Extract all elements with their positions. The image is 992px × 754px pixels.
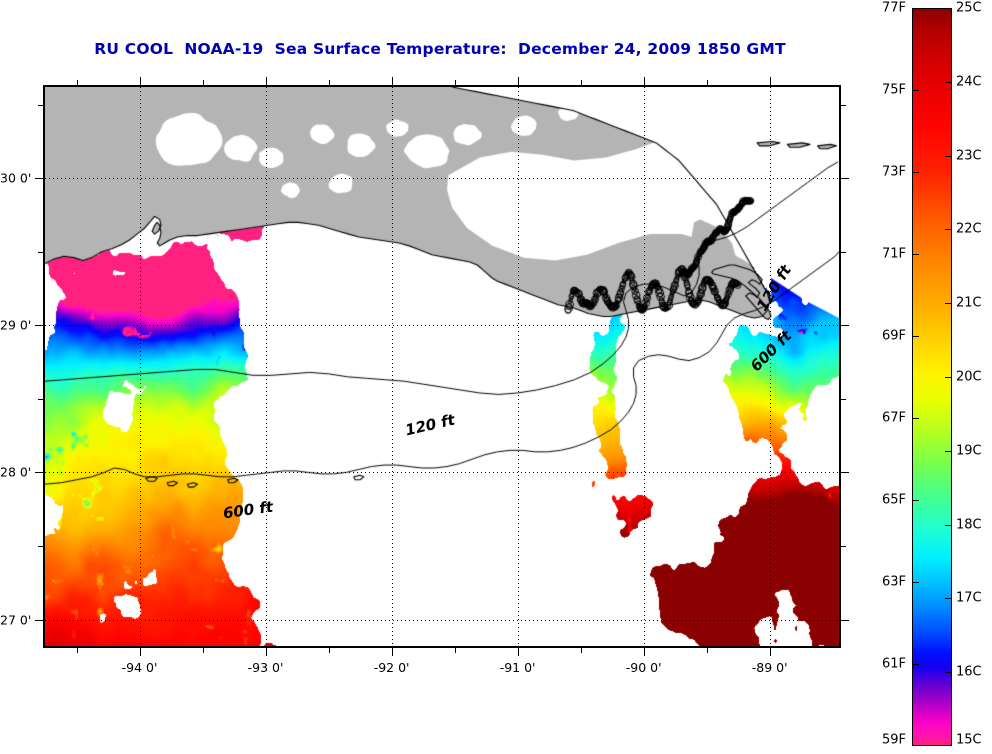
colorbar-celsius-label: 24C: [956, 74, 982, 89]
colorbar-fahrenheit-tick: [912, 172, 919, 173]
longitude-gridline: [770, 87, 771, 646]
colorbar-fahrenheit-label: 69F: [864, 329, 906, 344]
x-axis-tick: [770, 77, 771, 86]
colorbar-fahrenheit-tick: [912, 336, 919, 337]
x-axis-label: -92 0': [374, 660, 410, 675]
longitude-gridline: [644, 87, 645, 646]
y-axis-tick: [35, 620, 44, 621]
x-axis-minor-tick: [707, 647, 708, 653]
x-axis-minor-tick: [581, 647, 582, 653]
x-axis-label: -90 0': [626, 660, 662, 675]
x-axis-label: -89 0': [752, 660, 788, 675]
colorbar-celsius-label: 17C: [956, 591, 982, 606]
colorbar-celsius-tick: [945, 598, 952, 599]
longitude-gridline: [518, 87, 519, 646]
colorbar-celsius-label: 23C: [956, 148, 982, 163]
sst-map-panel: [43, 85, 841, 648]
y-axis-tick: [35, 472, 44, 473]
y-axis-minor-tick: [38, 105, 44, 106]
x-axis-tick: [644, 77, 645, 86]
y-axis-label: 29 0': [0, 318, 31, 333]
x-axis-minor-tick: [203, 647, 204, 653]
x-axis-tick: [266, 77, 267, 86]
y-axis-minor-tick: [38, 546, 44, 547]
x-axis-tick: [266, 647, 267, 656]
latitude-gridline: [45, 472, 839, 473]
colorbar-celsius-label: 22C: [956, 222, 982, 237]
colorbar-fahrenheit-label: 73F: [864, 165, 906, 180]
colorbar-celsius-label: 15C: [956, 733, 982, 748]
x-axis-minor-tick: [707, 80, 708, 86]
colorbar-celsius-tick: [945, 451, 952, 452]
x-axis-minor-tick: [455, 80, 456, 86]
colorbar-celsius-tick: [945, 525, 952, 526]
colorbar-fahrenheit-label: 63F: [864, 575, 906, 590]
x-axis-label: -91 0': [500, 660, 536, 675]
y-axis-minor-tick: [38, 252, 44, 253]
colorbar-fahrenheit-tick: [912, 418, 919, 419]
y-axis-label: 27 0': [0, 612, 31, 627]
latitude-gridline: [45, 178, 839, 179]
colorbar-fahrenheit-tick: [912, 90, 919, 91]
longitude-gridline: [266, 87, 267, 646]
y-axis-tick: [840, 178, 849, 179]
y-axis-label: 28 0': [0, 465, 31, 480]
colorbar-celsius-tick: [945, 229, 952, 230]
x-axis-minor-tick: [581, 80, 582, 86]
x-axis-tick: [518, 77, 519, 86]
colorbar-fahrenheit-label: 77F: [864, 1, 906, 16]
x-axis-tick: [770, 647, 771, 656]
x-axis-minor-tick: [329, 647, 330, 653]
y-axis-minor-tick: [38, 399, 44, 400]
x-axis-minor-tick: [77, 80, 78, 86]
x-axis-minor-tick: [329, 80, 330, 86]
colorbar-celsius-label: 16C: [956, 665, 982, 680]
longitude-gridline: [140, 87, 141, 646]
x-axis-tick: [140, 77, 141, 86]
y-axis-tick: [35, 178, 44, 179]
colorbar-celsius-tick: [945, 672, 952, 673]
latitude-gridline: [45, 325, 839, 326]
y-axis-tick: [35, 325, 44, 326]
colorbar-fahrenheit-label: 75F: [864, 83, 906, 98]
x-axis-tick: [518, 647, 519, 656]
x-axis-tick: [644, 647, 645, 656]
y-axis-label: 30 0': [0, 171, 31, 186]
colorbar-fahrenheit-label: 65F: [864, 493, 906, 508]
x-axis-minor-tick: [77, 647, 78, 653]
x-axis-minor-tick: [455, 647, 456, 653]
colorbar-fahrenheit-label: 61F: [864, 657, 906, 672]
x-axis-tick: [140, 647, 141, 656]
colorbar-fahrenheit-tick: [912, 582, 919, 583]
colorbar-celsius-tick: [945, 303, 952, 304]
page-title: RU COOL NOAA-19 Sea Surface Temperature:…: [0, 40, 880, 58]
colorbar-fahrenheit-label: 71F: [864, 247, 906, 262]
y-axis-tick: [840, 472, 849, 473]
x-axis-tick: [392, 647, 393, 656]
colorbar-celsius-label: 20C: [956, 370, 982, 385]
colorbar-fahrenheit-label: 67F: [864, 411, 906, 426]
colorbar-fahrenheit-tick: [912, 664, 919, 665]
colorbar-celsius-label: 19C: [956, 443, 982, 458]
colorbar-fahrenheit-tick: [912, 254, 919, 255]
y-axis-minor-tick: [840, 252, 846, 253]
x-axis-minor-tick: [203, 80, 204, 86]
latitude-gridline: [45, 620, 839, 621]
colorbar-celsius-label: 21C: [956, 296, 982, 311]
y-axis-minor-tick: [840, 399, 846, 400]
colorbar-fahrenheit-tick: [912, 500, 919, 501]
colorbar-celsius-tick: [945, 377, 952, 378]
colorbar-fahrenheit-label: 59F: [864, 733, 906, 748]
y-axis-tick: [840, 620, 849, 621]
y-axis-minor-tick: [840, 105, 846, 106]
colorbar-celsius-label: 25C: [956, 1, 982, 16]
y-axis-tick: [840, 325, 849, 326]
x-axis-label: -93 0': [248, 660, 284, 675]
sst-map-inner: [45, 87, 839, 646]
longitude-gridline: [392, 87, 393, 646]
colorbar-celsius-tick: [945, 156, 952, 157]
y-axis-minor-tick: [840, 546, 846, 547]
colorbar-celsius-label: 18C: [956, 517, 982, 532]
colorbar-celsius-tick: [945, 82, 952, 83]
x-axis-tick: [392, 77, 393, 86]
x-axis-label: -94 0': [122, 660, 158, 675]
coastline-bathymetry-layer: [45, 87, 839, 646]
